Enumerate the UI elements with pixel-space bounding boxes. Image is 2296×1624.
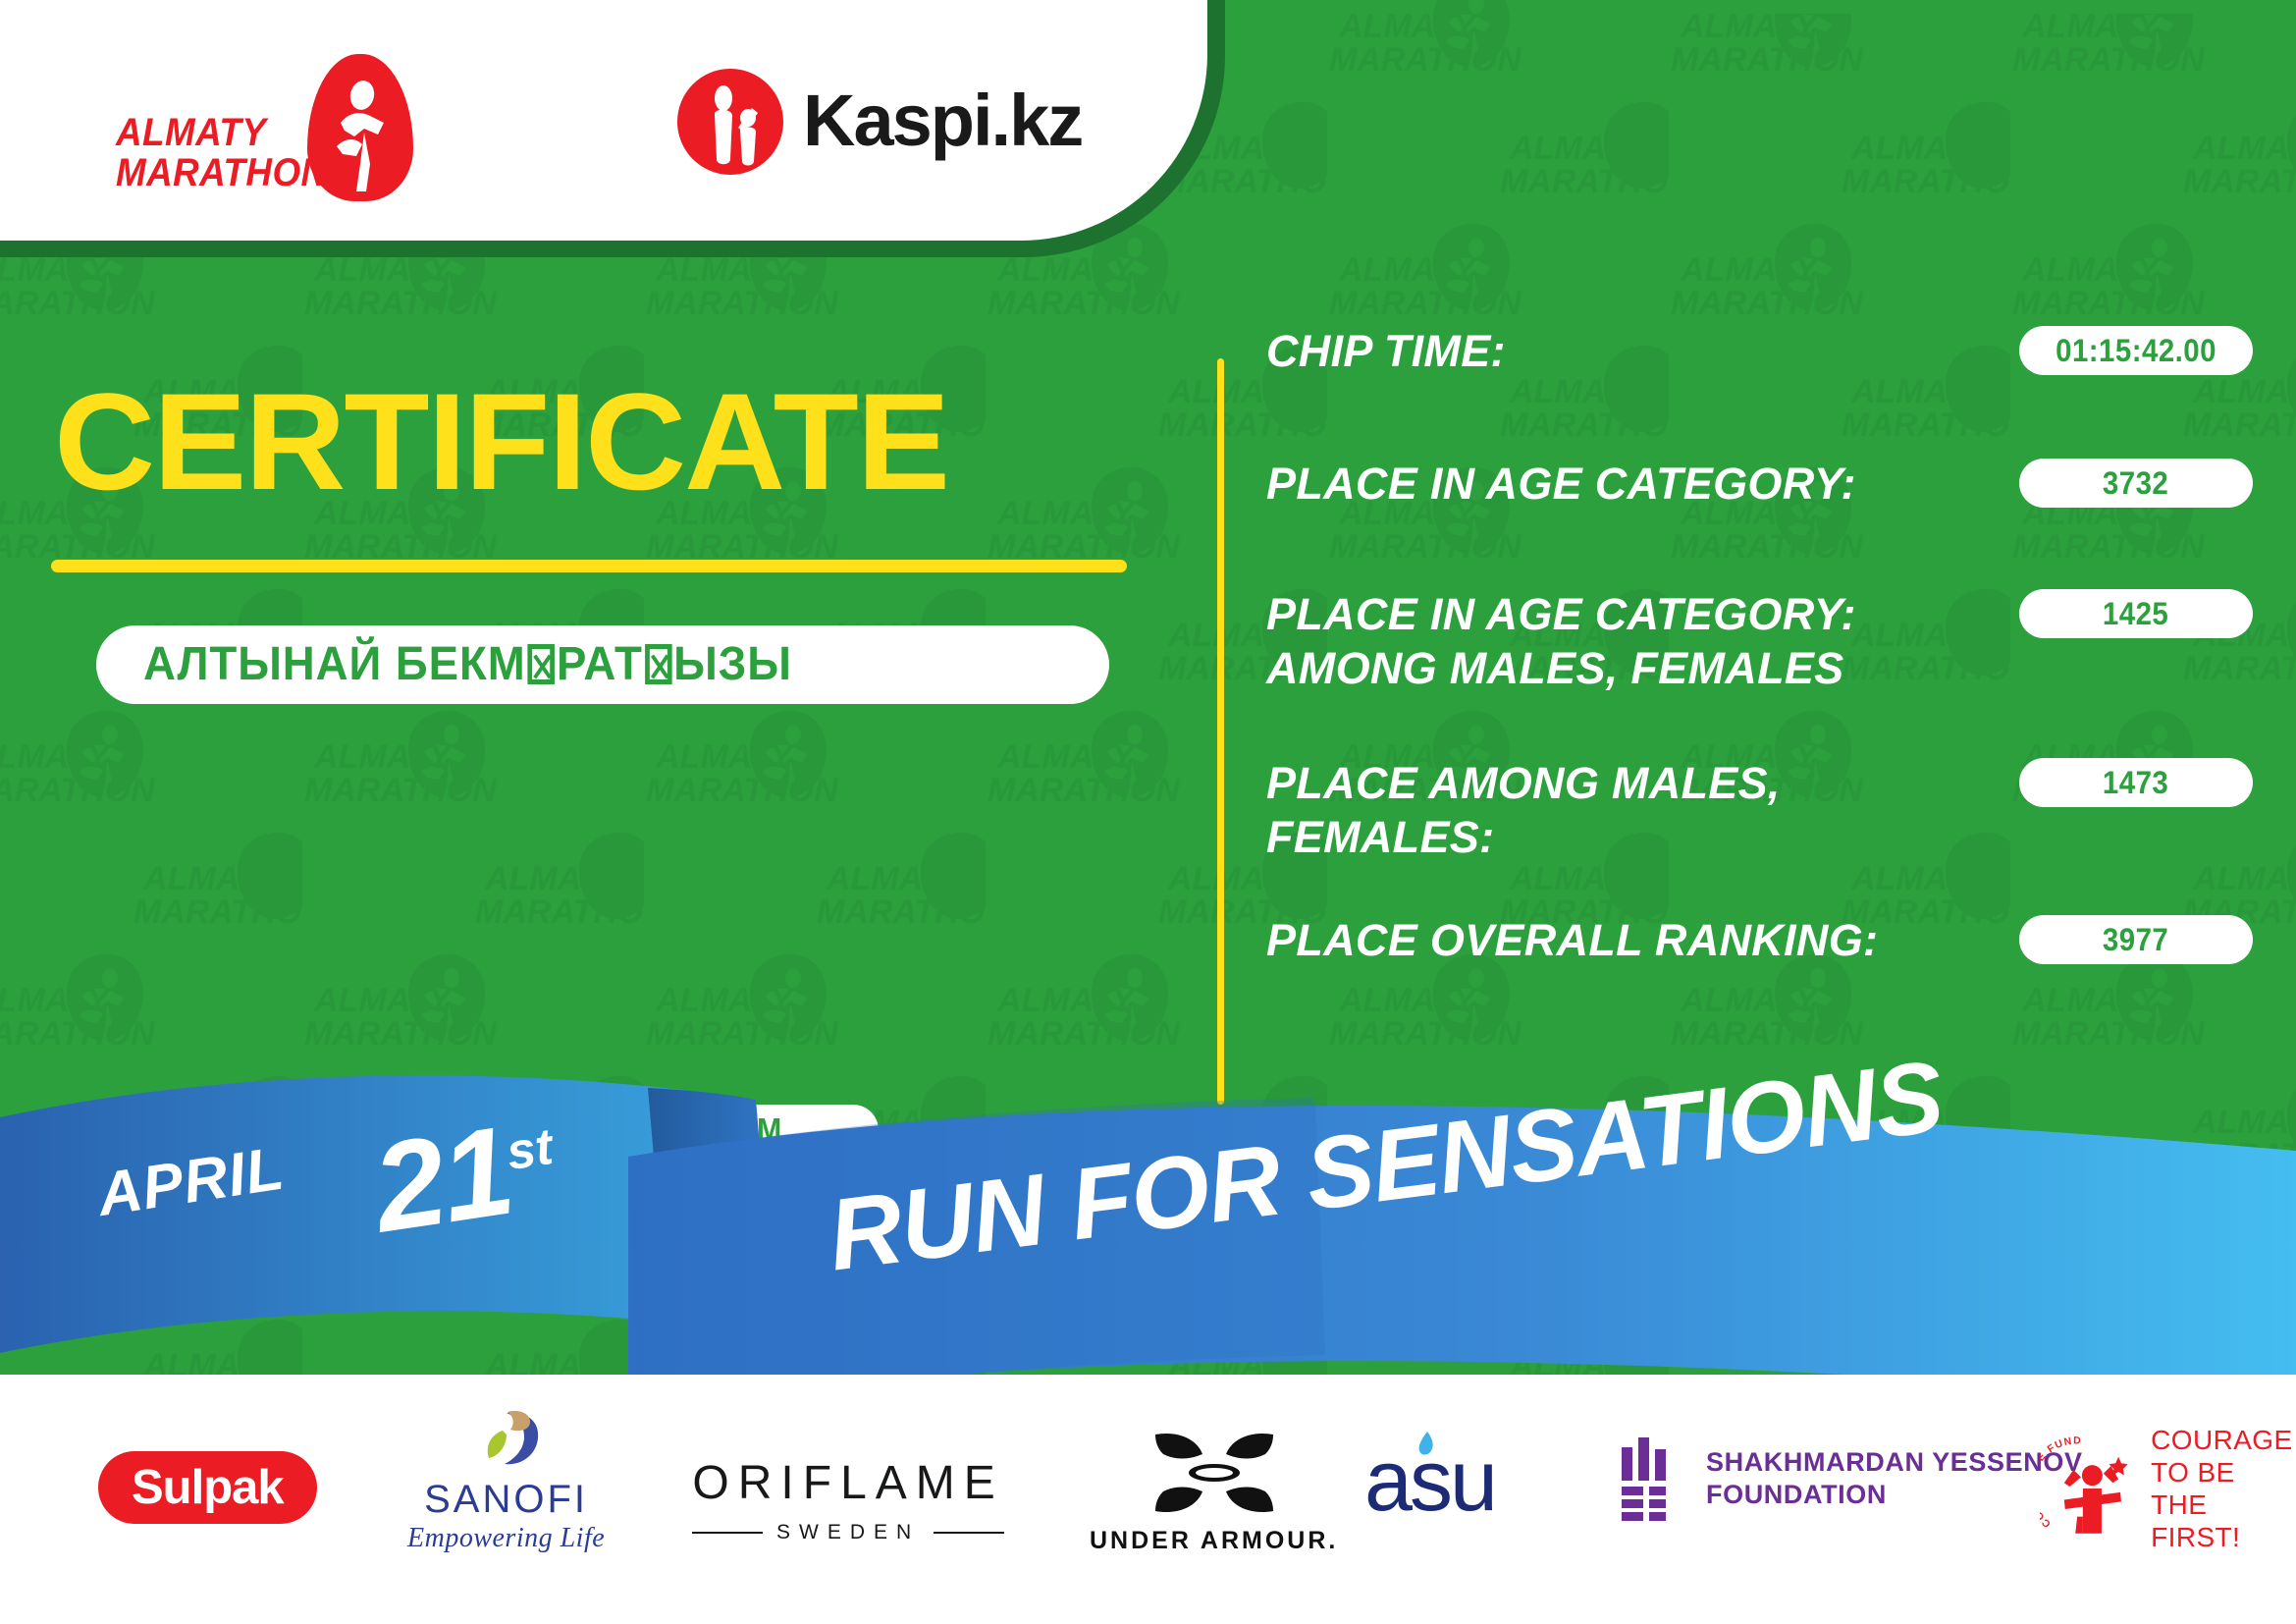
sponsor-sanofi: SANOFI Empowering Life [407,1409,605,1554]
sulpak-logo-icon: Sulpak [98,1451,317,1524]
stat-row: PLACE OVERALL RANKING:3977 [1266,913,2253,967]
stat-label: PLACE OVERALL RANKING: [1266,913,1878,967]
yessenov-foundation-name-line1: SHAKHMARDAN YESSENOV [1706,1446,2083,1479]
stat-value: 01:15:42.00 [2056,334,2216,367]
finish-time-row: FINISH TIME: 01:16:40.00 [265,1227,875,1278]
sanofi-tagline: Empowering Life [407,1523,605,1554]
sponsor-oriflame: ORIFLAME SWEDEN [692,1458,1004,1544]
svg-text:CORPORATE FUND: CORPORATE FUND [2040,1435,2082,1529]
kaspi-logo: Kaspi.kz [677,67,1090,180]
header-logos: ALMATY MARATHON Kaspi.kz [0,0,1207,241]
distance-value: 10 KM [692,1112,782,1148]
ribbon-day: 21st [363,1084,563,1252]
name-part-3: ЫЗЫ [673,638,792,690]
finish-time-value: 01:16:40.00 [651,1235,817,1271]
kaspi-mark-icon [677,69,783,175]
oriflame-rule-right [934,1532,1004,1534]
yessenov-foundation-name-line2: FOUNDATION [1706,1479,2083,1511]
name-part-2: РАТ [557,638,643,690]
stat-value: 1425 [2103,597,2168,630]
oriflame-rule-left [692,1532,763,1534]
participant-name-text: АЛТЫНАЙ БЕКМРАТЫЗЫ [143,639,792,690]
title-underline [51,560,1127,572]
yessenov-foundation-mark-icon [1618,1435,1681,1522]
page-title: CERTIFICATE [54,368,948,515]
stat-row: PLACE IN AGE CATEGORY: AMONG MALES, FEMA… [1266,587,2253,695]
stat-value: 3732 [2103,466,2168,500]
kaspi-wordmark: Kaspi.kz [803,79,1082,163]
missing-glyph-box-icon [528,644,556,684]
stat-value-pill: 1425 [2019,589,2253,638]
sponsor-sulpak: Sulpak [98,1451,317,1524]
asu-name: asu [1364,1435,1495,1526]
under-armour-name: UNDER ARMOUR. [1090,1527,1338,1554]
stat-value-pill: 3977 [2019,915,2253,964]
stat-value-pill: 1473 [2019,758,2253,807]
name-part-1: АЛТЫНАЙ БЕКМ [143,638,526,690]
missing-glyph-box-icon [645,644,672,684]
sponsor-courage-to-be-the-first: CORPORATE FUND COURAGE TO BE THE FIRST! [2040,1424,2296,1553]
sanofi-name: SANOFI [424,1478,588,1521]
stat-label: CHIP TIME: [1266,324,1506,378]
oriflame-sub: SWEDEN [692,1521,1004,1544]
courage-line-3: THE FIRST! [2151,1489,2296,1553]
ribbon-day-suffix: st [503,1118,556,1181]
certificate-page: ALMATY MARATHON Kaspi.kz CERTIFICATE [0,0,2296,1624]
vertical-divider [1217,358,1224,1105]
courage-fund-mark-icon: CORPORATE FUND [2040,1435,2137,1542]
stat-label: PLACE IN AGE CATEGORY: AMONG MALES, FEMA… [1266,587,1944,695]
oriflame-name: ORIFLAME [692,1458,1003,1509]
stat-value: 1473 [2103,766,2168,799]
header-top-green-strip [1589,0,2296,14]
stat-value: 3977 [2103,923,2168,956]
stat-row: PLACE AMONG MALES, FEMALES:1473 [1266,756,2253,864]
stat-value-pill: 3732 [2019,459,2253,508]
distance-row: DISTANCE: 10 KM [265,1105,879,1156]
courage-line-1: COURAGE [2151,1424,2296,1456]
sanofi-mark-icon [461,1409,552,1474]
sponsor-under-armour: UNDER ARMOUR. [1090,1429,1338,1554]
under-armour-mark-icon [1146,1429,1283,1517]
participant-name-field: АЛТЫНАЙ БЕКМРАТЫЗЫ [96,625,1109,704]
stat-row: CHIP TIME:01:15:42.00 [1266,324,2253,378]
stat-row: PLACE IN AGE CATEGORY:3732 [1266,457,2253,511]
oriflame-sub-text: SWEDEN [776,1521,920,1544]
stat-label: PLACE AMONG MALES, FEMALES: [1266,756,1944,864]
almaty-marathon-logo: ALMATY MARATHON [116,54,440,196]
marathon-logo-line2: MARATHON [116,153,328,193]
sponsor-shakhmardan-yessenov-foundation: SHAKHMARDAN YESSENOV FOUNDATION [1618,1435,2083,1522]
distance-value-pill: 10 KM [596,1105,879,1156]
marathon-logo-line1: ALMATY [116,113,328,153]
sponsor-strip: Sulpak SANOFI Empowering Life ORIFLAME S… [0,1375,2296,1624]
stat-label: PLACE IN AGE CATEGORY: [1266,457,1856,511]
courage-line-2: TO BE [2151,1456,2296,1489]
almaty-marathon-wordmark: ALMATY MARATHON [116,113,328,193]
ribbon-day-number: 21 [365,1101,520,1260]
asu-droplet-icon [1414,1430,1439,1463]
stat-value-pill: 01:15:42.00 [2019,326,2253,375]
sponsor-asu: asu [1364,1435,1495,1526]
sulpak-name: Sulpak [132,1461,284,1514]
